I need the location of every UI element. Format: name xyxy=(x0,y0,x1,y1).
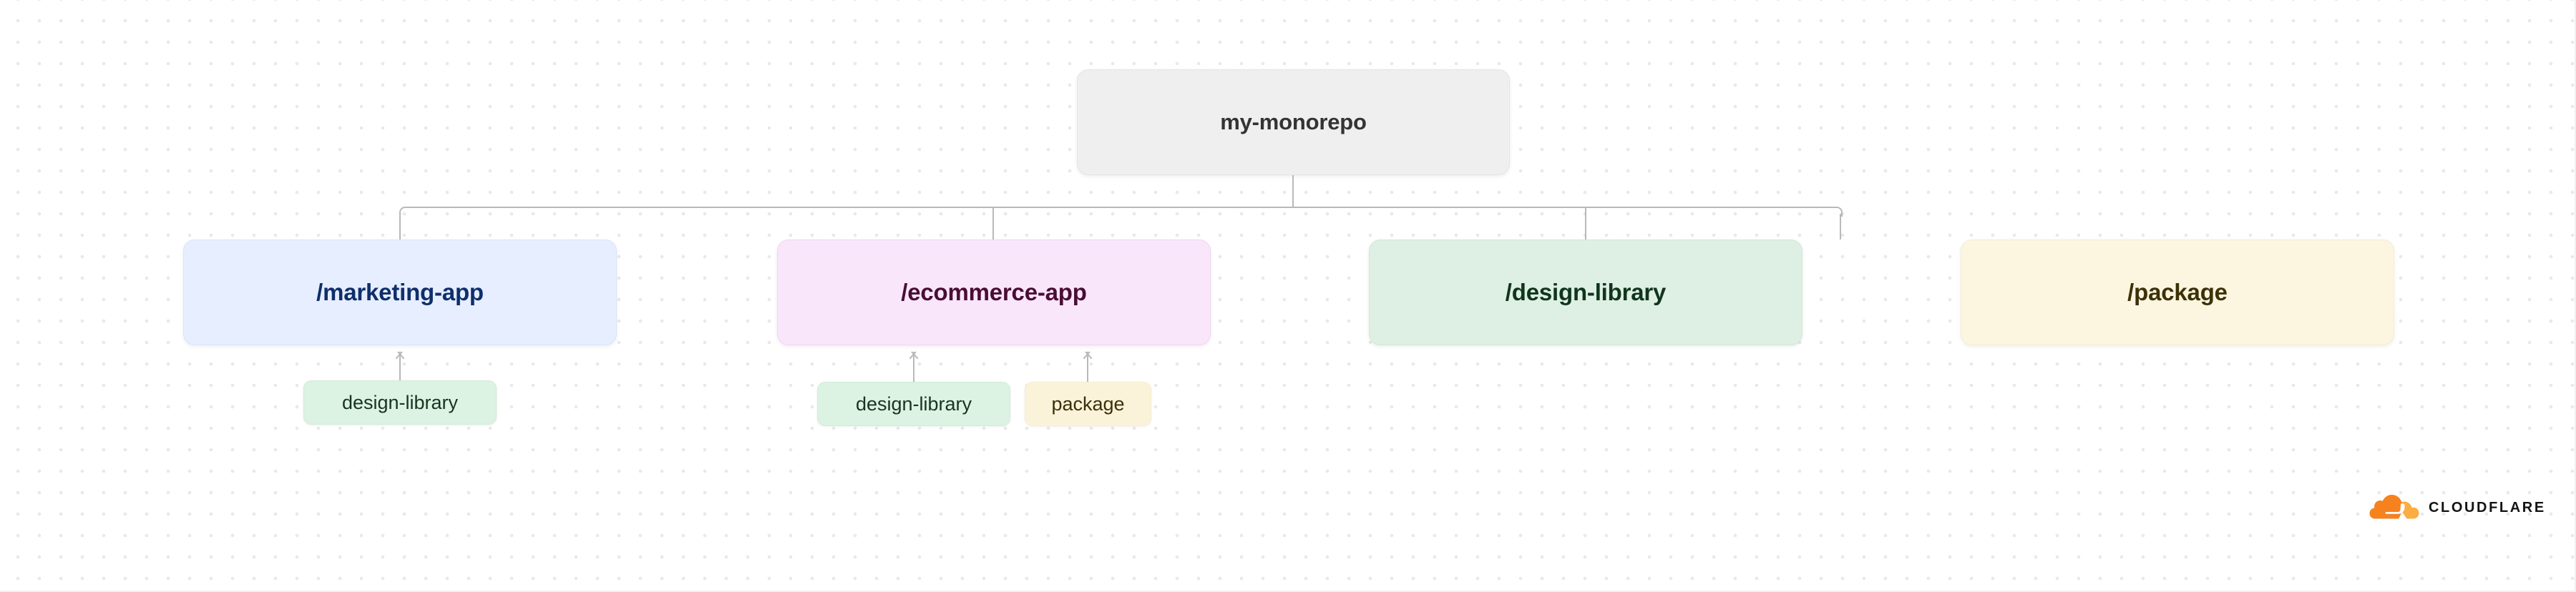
node-label-marketing-app: /marketing-app xyxy=(316,279,484,306)
dependency-arrow-head-ecommerce-designlibrary xyxy=(907,347,920,357)
dependency-arrow-head-marketing-designlibrary xyxy=(394,347,406,357)
node-package[interactable]: /package xyxy=(1961,240,2394,345)
cloudflare-logo: CLOUDFLARE xyxy=(2369,495,2546,521)
connector-drop-designlibrary xyxy=(1585,207,1586,240)
dependency-badge-ecommerce-design-library[interactable]: design-library xyxy=(817,382,1010,426)
dependency-badge-label: package xyxy=(1051,393,1124,415)
node-label-ecommerce-app: /ecommerce-app xyxy=(901,279,1086,306)
connector-horizontal-bus xyxy=(405,207,1837,208)
connector-root-stem xyxy=(1292,175,1294,207)
dependency-arrow-line-ecommerce-package xyxy=(1087,352,1088,386)
connector-corner-marketing xyxy=(399,207,409,217)
cloudflare-wordmark: CLOUDFLARE xyxy=(2429,500,2546,516)
dependency-badge-label: design-library xyxy=(342,392,458,414)
connector-drop-package xyxy=(1840,214,1841,240)
node-my-monorepo[interactable]: my-monorepo xyxy=(1077,69,1510,175)
node-design-library[interactable]: /design-library xyxy=(1369,240,1802,345)
dependency-arrow-line-ecommerce-designlibrary xyxy=(913,352,914,386)
dependency-arrow-head-ecommerce-package xyxy=(1081,347,1094,357)
connector-drop-ecommerce xyxy=(992,207,994,240)
node-label-package: /package xyxy=(2127,279,2228,306)
node-ecommerce-app[interactable]: /ecommerce-app xyxy=(777,240,1211,345)
dependency-badge-label: design-library xyxy=(856,393,972,415)
dependency-badge-marketing-design-library[interactable]: design-library xyxy=(303,380,497,425)
diagram-canvas: my-monorepo /marketing-app /ecommerce-ap… xyxy=(0,0,2576,592)
node-marketing-app[interactable]: /marketing-app xyxy=(183,240,617,345)
node-label-root: my-monorepo xyxy=(1220,109,1366,135)
connector-drop-marketing xyxy=(399,214,401,240)
cloudflare-cloud-icon xyxy=(2369,495,2419,521)
node-label-design-library: /design-library xyxy=(1506,279,1666,306)
dependency-badge-ecommerce-package[interactable]: package xyxy=(1025,382,1151,426)
